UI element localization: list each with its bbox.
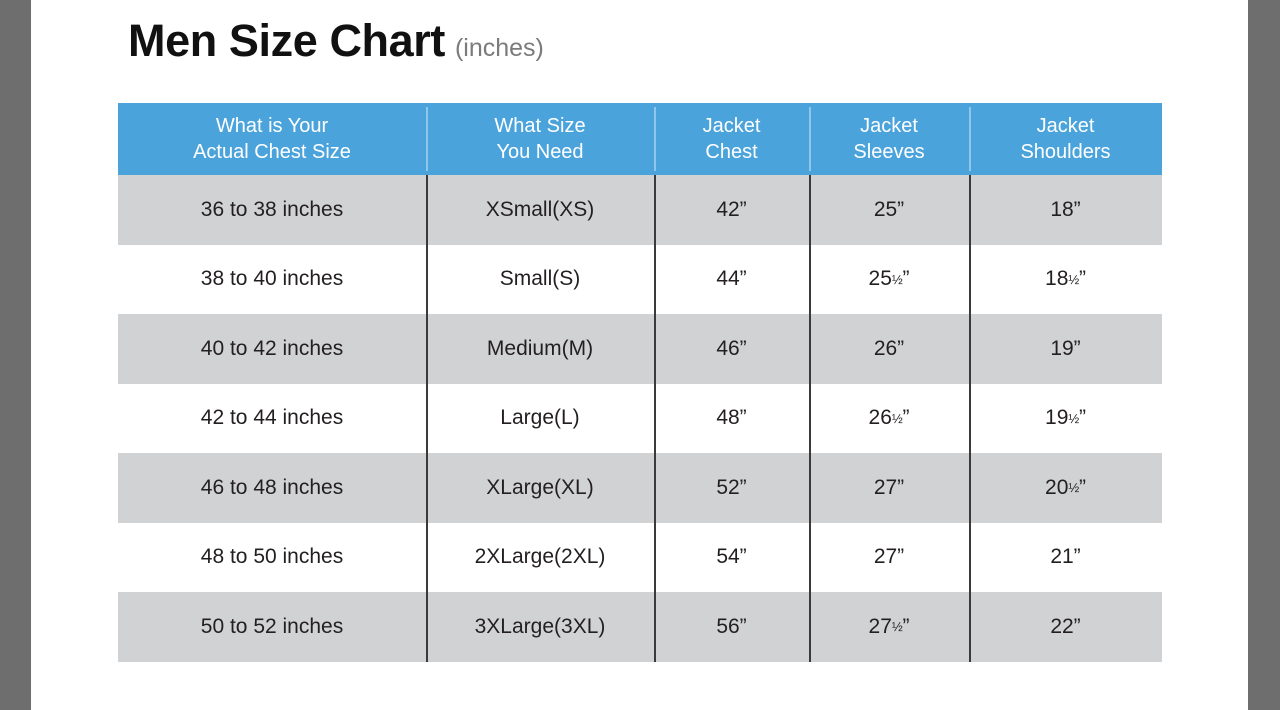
cell-jacket-sleeves: 27½” [809,592,969,662]
column-header-jacket-sleeves: Jacket Sleeves [809,103,969,175]
letterbox-band-left [0,0,31,710]
column-header-line2: Actual Chest Size [193,139,351,165]
size-chart-table: What is Your Actual Chest Size What Size… [118,103,1162,662]
cell-jacket-shoulders: 22” [969,592,1162,662]
cell-actual-chest-size: 46 to 48 inches [118,453,426,523]
page-title: Men Size Chart (inches) [128,18,544,63]
column-header-line1: Jacket [860,113,918,139]
letterbox-band-right [1248,0,1280,710]
table-row: 46 to 48 inches XLarge(XL) 52” 27” 20½” [118,453,1162,523]
column-header-line1: Jacket [1037,113,1095,139]
column-header-jacket-shoulders: Jacket Shoulders [969,103,1162,175]
table-row: 40 to 42 inches Medium(M) 46” 26” 19” [118,314,1162,384]
cell-actual-chest-size: 36 to 38 inches [118,175,426,245]
column-header-line2: You Need [496,139,583,165]
table-row: 38 to 40 inches Small(S) 44” 25½” 18½” [118,245,1162,315]
page-title-unit: (inches) [455,36,544,61]
column-header-size-you-need: What Size You Need [426,103,654,175]
cell-jacket-sleeves: 25½” [809,245,969,315]
cell-jacket-chest: 54” [654,523,809,593]
column-header-line2: Chest [705,139,757,165]
table-row: 50 to 52 inches 3XLarge(3XL) 56” 27½” 22… [118,592,1162,662]
cell-actual-chest-size: 50 to 52 inches [118,592,426,662]
cell-size-you-need: 2XLarge(2XL) [426,523,654,593]
cell-jacket-chest: 46” [654,314,809,384]
cell-size-you-need: 3XLarge(3XL) [426,592,654,662]
cell-actual-chest-size: 48 to 50 inches [118,523,426,593]
column-header-line1: Jacket [703,113,761,139]
cell-size-you-need: XSmall(XS) [426,175,654,245]
cell-jacket-chest: 56” [654,592,809,662]
table-body: 36 to 38 inches XSmall(XS) 42” 25” 18” 3… [118,175,1162,662]
table-row: 42 to 44 inches Large(L) 48” 26½” 19½” [118,384,1162,454]
cell-jacket-shoulders: 18” [969,175,1162,245]
cell-jacket-sleeves: 26½” [809,384,969,454]
page-title-main: Men Size Chart [128,18,445,63]
cell-jacket-shoulders: 19½” [969,384,1162,454]
column-header-actual-chest-size: What is Your Actual Chest Size [118,103,426,175]
cell-jacket-shoulders: 18½” [969,245,1162,315]
cell-actual-chest-size: 40 to 42 inches [118,314,426,384]
column-header-line2: Shoulders [1020,139,1110,165]
cell-jacket-shoulders: 21” [969,523,1162,593]
cell-jacket-shoulders: 19” [969,314,1162,384]
cell-jacket-sleeves: 25” [809,175,969,245]
cell-jacket-chest: 42” [654,175,809,245]
chart-page: Men Size Chart (inches) What is Your Act… [31,0,1248,710]
cell-size-you-need: Large(L) [426,384,654,454]
column-header-jacket-chest: Jacket Chest [654,103,809,175]
cell-size-you-need: Small(S) [426,245,654,315]
column-header-line1: What is Your [216,113,328,139]
table-row: 48 to 50 inches 2XLarge(2XL) 54” 27” 21” [118,523,1162,593]
table-row: 36 to 38 inches XSmall(XS) 42” 25” 18” [118,175,1162,245]
cell-actual-chest-size: 42 to 44 inches [118,384,426,454]
cell-actual-chest-size: 38 to 40 inches [118,245,426,315]
cell-size-you-need: XLarge(XL) [426,453,654,523]
cell-jacket-chest: 52” [654,453,809,523]
table-header-row: What is Your Actual Chest Size What Size… [118,103,1162,175]
size-chart-screen: Men Size Chart (inches) What is Your Act… [0,0,1280,710]
column-header-line2: Sleeves [853,139,924,165]
cell-size-you-need: Medium(M) [426,314,654,384]
cell-jacket-sleeves: 27” [809,523,969,593]
cell-jacket-sleeves: 27” [809,453,969,523]
cell-jacket-shoulders: 20½” [969,453,1162,523]
cell-jacket-sleeves: 26” [809,314,969,384]
column-header-line1: What Size [494,113,585,139]
cell-jacket-chest: 48” [654,384,809,454]
cell-jacket-chest: 44” [654,245,809,315]
